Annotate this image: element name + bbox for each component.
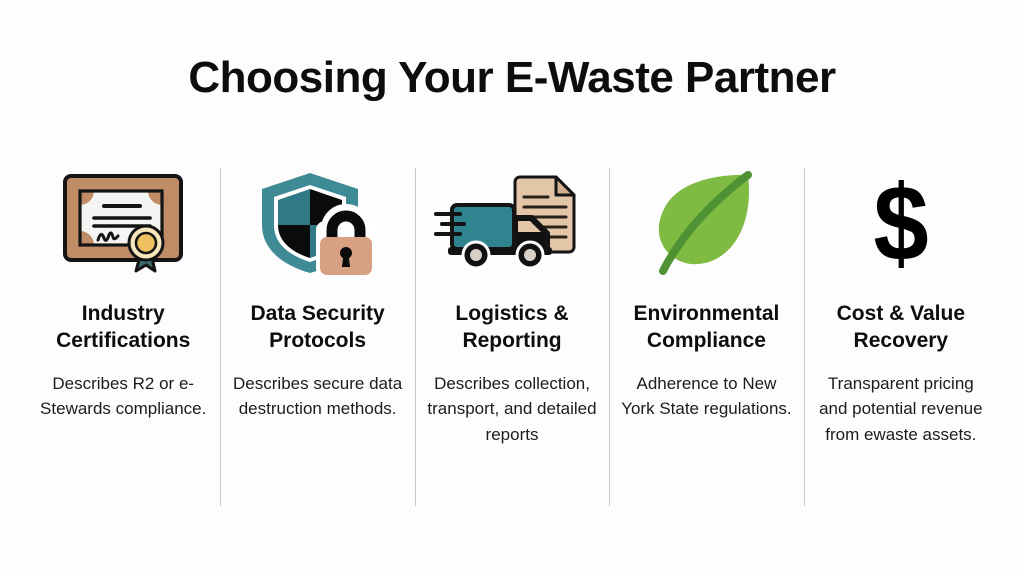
column-body: Describes secure data destruction method… xyxy=(232,371,404,422)
column-body: Transparent pricing and potential revenu… xyxy=(815,371,987,448)
column-heading: Cost & Value Recovery xyxy=(812,301,990,355)
delivery-truck-document-icon xyxy=(434,163,590,283)
column-heading: Data Security Protocols xyxy=(228,301,406,355)
column-heading: Environmental Compliance xyxy=(617,301,795,355)
dollar-sign-glyph: $ xyxy=(873,169,928,277)
dollar-sign-icon: $ xyxy=(871,163,931,283)
page-title: Choosing Your E-Waste Partner xyxy=(0,54,1024,102)
column-heading: Logistics & Reporting xyxy=(423,301,601,355)
certificate-icon xyxy=(58,163,188,283)
column-body: Describes collection, transport, and det… xyxy=(426,371,598,448)
feature-columns: Industry Certifications Describes R2 or … xyxy=(26,163,998,513)
shield-lock-icon xyxy=(254,163,382,283)
feature-column-industry-certifications: Industry Certifications Describes R2 or … xyxy=(26,163,220,422)
infographic-canvas: Choosing Your E-Waste Partner xyxy=(0,0,1024,572)
green-leaf-icon xyxy=(647,163,765,283)
feature-column-data-security-protocols: Data Security Protocols Describes secure… xyxy=(220,163,414,422)
column-body: Describes R2 or e-Stewards compliance. xyxy=(37,371,209,422)
feature-column-environmental-compliance: Environmental Compliance Adherence to Ne… xyxy=(609,163,803,422)
feature-column-logistics-reporting: Logistics & Reporting Describes collecti… xyxy=(415,163,609,447)
column-body: Adherence to New York State regulations. xyxy=(620,371,792,422)
column-heading: Industry Certifications xyxy=(34,301,212,355)
feature-column-cost-value-recovery: $ Cost & Value Recovery Transparent pric… xyxy=(804,163,998,447)
